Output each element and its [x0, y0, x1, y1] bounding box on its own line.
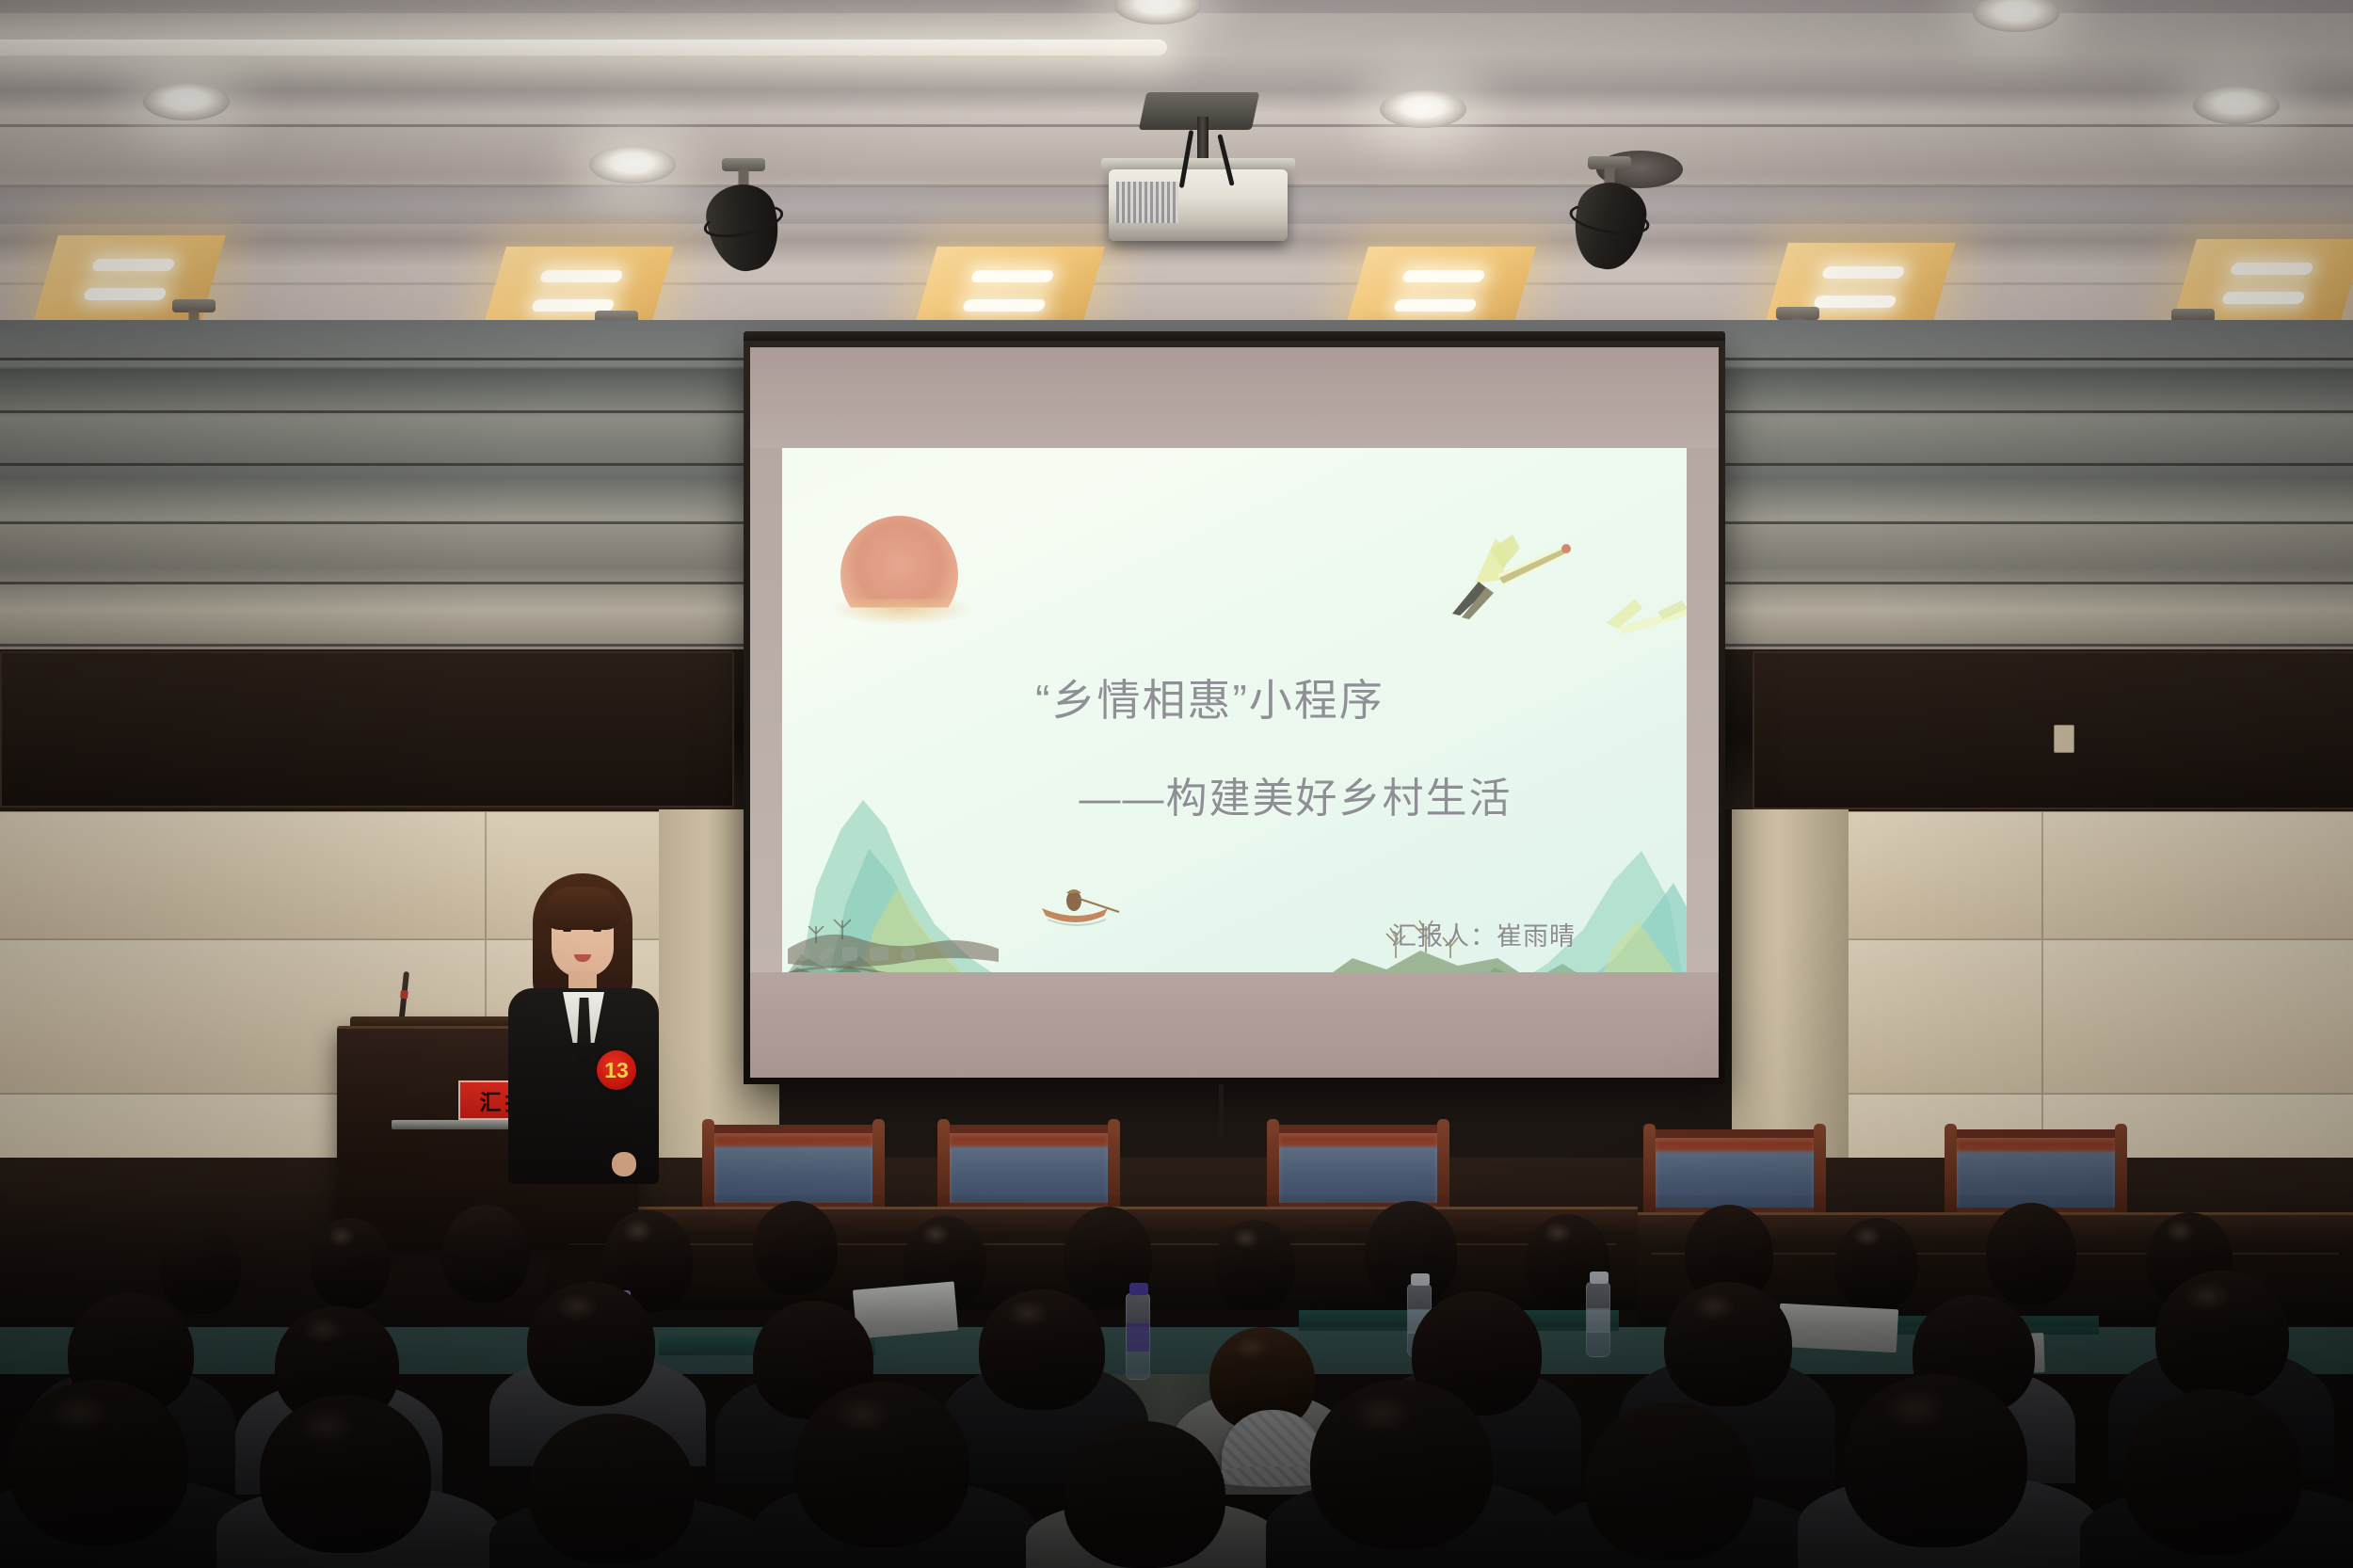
- slide-title: “乡情相惠”小程序: [782, 666, 1687, 728]
- chevron-left-icon[interactable]: ‹: [928, 948, 936, 960]
- presenter-bangs: [544, 887, 621, 930]
- slide-view-icon[interactable]: [870, 947, 888, 961]
- ceiling-downlight: [2193, 87, 2280, 124]
- flying-crane-icon: [1601, 591, 1687, 644]
- podium-handle: [392, 1120, 523, 1129]
- menu-icon[interactable]: [901, 947, 916, 961]
- record-icon[interactable]: [795, 947, 810, 961]
- ceiling-strip-light: [0, 40, 1167, 56]
- ceiling-downlight: [1114, 0, 1201, 24]
- ceiling-downlight: [143, 83, 230, 120]
- presenter-person: 13: [508, 873, 659, 1184]
- fisherman-boat-icon: [1034, 878, 1121, 932]
- wall-socket: [2054, 725, 2074, 753]
- ceiling-downlight: [1380, 90, 1466, 128]
- slide-subtitle: ——构建美好乡村生活: [904, 764, 1687, 824]
- slideshow-toolbar[interactable]: ‹: [795, 945, 936, 962]
- left-bank-ink: [788, 858, 1023, 984]
- screen-pull-cord[interactable]: [1219, 1084, 1224, 1137]
- wall-acoustic-panel: [0, 651, 734, 808]
- slide-title-block: “乡情相惠”小程序 ——构建美好乡村生活: [782, 666, 1687, 824]
- pen-icon[interactable]: [818, 945, 835, 962]
- slide-presenter-label: 汇报人：崔雨晴: [1391, 916, 1576, 952]
- presenter-badge-number: 13: [604, 1060, 629, 1081]
- ceiling-downlight: [1973, 0, 2059, 32]
- laser-pointer-icon[interactable]: [842, 947, 857, 961]
- presenter-hand: [612, 1152, 636, 1176]
- wall-panel: [0, 811, 486, 939]
- presenter-badge: 13: [597, 1050, 636, 1090]
- wall-panel: [2042, 811, 2353, 939]
- projection-screen[interactable]: “乡情相惠”小程序 ——构建美好乡村生活: [744, 341, 1725, 1084]
- flying-crane-icon: [1441, 523, 1582, 622]
- lecture-hall-scene: “乡情相惠”小程序 ——构建美好乡村生活: [0, 0, 2353, 1568]
- sun-glow: [831, 599, 972, 625]
- screen-lower-blank: [750, 972, 1719, 1078]
- wall-acoustic-panel: [1753, 651, 2353, 809]
- ceiling-downlight: [589, 146, 676, 184]
- wall-panel: [2042, 939, 2353, 1094]
- audience-area: [0, 1195, 2353, 1568]
- presentation-slide[interactable]: “乡情相惠”小程序 ——构建美好乡村生活: [782, 448, 1687, 984]
